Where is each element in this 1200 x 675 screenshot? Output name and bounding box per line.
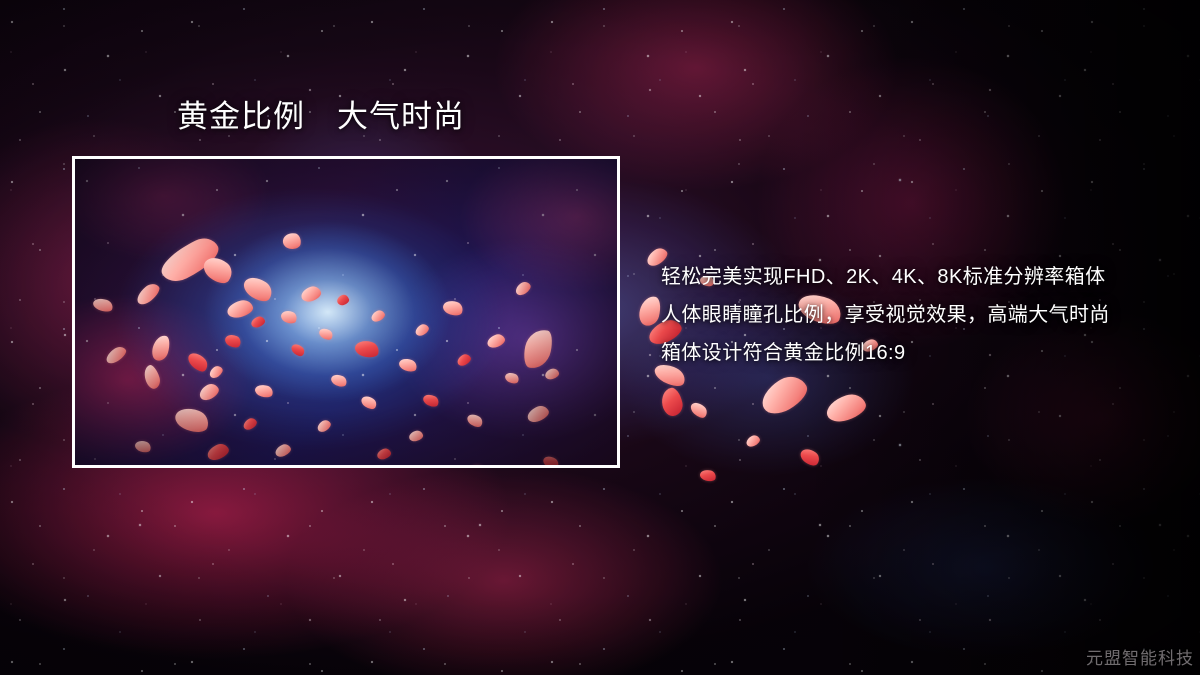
display-preview-frame[interactable] [72, 156, 620, 468]
feature-description-text: 轻松完美实现FHD、2K、4K、8K标准分辨率箱体人体眼睛瞳孔比例，享受视觉效果… [661, 258, 1161, 372]
feature-description-line: 轻松完美实现FHD、2K、4K、8K标准分辨率箱体 [661, 258, 1161, 296]
flower-petal [637, 294, 664, 328]
feature-description-line: 人体眼睛瞳孔比例，享受视觉效果，高端大气时尚 [661, 296, 1161, 334]
flower-petal [659, 386, 684, 418]
slide-canvas: 黄金比例 大气时尚 轻松完美实现FHD、2K、4K、8K标准分辨率箱体人体眼睛瞳… [0, 0, 1200, 675]
flower-petal [699, 468, 717, 483]
preview-image [75, 159, 617, 465]
flower-petal [798, 445, 822, 468]
flower-petal [688, 400, 709, 421]
flower-petal [756, 370, 813, 420]
flower-petal [823, 390, 868, 425]
feature-description-line: 箱体设计符合黄金比例16:9 [661, 334, 1161, 372]
page-title: 黄金比例 大气时尚 [177, 100, 465, 134]
company-watermark: 元盟智能科技 [1086, 644, 1194, 669]
preview-vignette [75, 159, 617, 465]
flower-petal [745, 433, 762, 448]
